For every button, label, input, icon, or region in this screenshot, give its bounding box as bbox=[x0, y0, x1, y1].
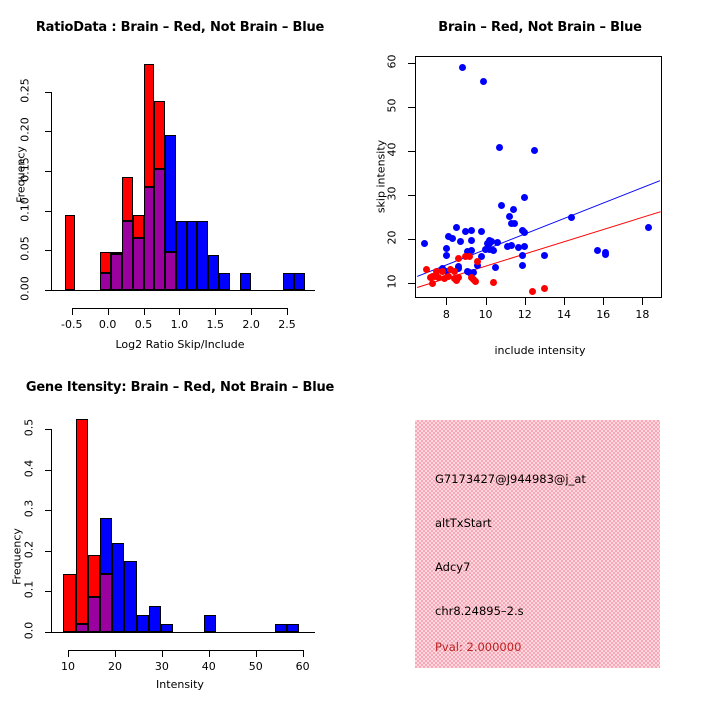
scatter-point bbox=[602, 251, 609, 258]
scatter-x-tick-label: 8 bbox=[430, 308, 462, 321]
ratio-baseline bbox=[51, 290, 315, 291]
gene-bar bbox=[63, 574, 75, 632]
scatter-data-layer bbox=[415, 56, 662, 298]
ratio-x-tick bbox=[108, 308, 109, 315]
scatter-x-tick bbox=[446, 298, 447, 305]
ratio-x-tick bbox=[72, 308, 73, 315]
ratio-bar bbox=[197, 221, 208, 290]
ratio-x-tick-label: 1.0 bbox=[159, 318, 199, 331]
ratio-bar-overlap bbox=[122, 221, 133, 290]
ratio-bar-overlap bbox=[154, 169, 165, 290]
scatter-point bbox=[480, 78, 487, 85]
scatter-x-tick-label: 12 bbox=[509, 308, 541, 321]
ratio-bar bbox=[111, 252, 122, 254]
gene-bar bbox=[137, 615, 149, 632]
scatter-y-tick bbox=[408, 283, 415, 284]
scatter-point bbox=[519, 262, 526, 269]
ratio-bar-overlap bbox=[133, 238, 144, 290]
ratio-x-tick-label: 2.0 bbox=[231, 318, 271, 331]
ratio-x-tick-label: 1.5 bbox=[195, 318, 235, 331]
scatter-y-tick-label: 60 bbox=[386, 48, 399, 74]
scatter-point bbox=[492, 264, 499, 271]
gene-x-tick-label: 60 bbox=[285, 660, 321, 673]
ratio-y-tick bbox=[45, 211, 52, 212]
gene-y-tick-label: 0.5 bbox=[23, 414, 36, 442]
locus-text: chr8.24895–2.s bbox=[435, 604, 524, 618]
ratio-bar-overlap bbox=[111, 254, 122, 290]
gene-x-tick bbox=[115, 650, 116, 657]
ratio-x-tick bbox=[251, 308, 252, 315]
gene-x-tick-label: 50 bbox=[238, 660, 274, 673]
scatter-point bbox=[453, 224, 460, 231]
ratio-y-tick-label: 0.10 bbox=[19, 193, 32, 225]
scatter-x-tick bbox=[486, 298, 487, 305]
probe-info-box: G7173427@J944983@j_at altTxStart Adcy7 c… bbox=[415, 420, 660, 668]
event-type-text: altTxStart bbox=[435, 516, 492, 530]
scatter-x-tick bbox=[603, 298, 604, 305]
scatter-point bbox=[510, 206, 517, 213]
scatter-x-tick bbox=[564, 298, 565, 305]
gene-y-tick-label: 0.2 bbox=[23, 535, 36, 563]
scatter-point bbox=[421, 240, 428, 247]
scatter-y-tick-label: 40 bbox=[386, 136, 399, 162]
ratio-y-tick bbox=[45, 131, 52, 132]
gene-x-tick-label: 10 bbox=[50, 660, 86, 673]
gene-bar bbox=[124, 561, 136, 632]
gene-y-tick bbox=[45, 510, 52, 511]
scatter-point bbox=[521, 229, 528, 236]
gene-x-axis-line bbox=[68, 650, 303, 651]
ratio-bar bbox=[154, 101, 165, 169]
ratio-bar bbox=[283, 273, 294, 290]
gene-y-tick bbox=[45, 551, 52, 552]
ratio-y-tick-label: 0.25 bbox=[19, 74, 32, 106]
ratio-histogram-plot-area: 0.000.050.100.150.200.25-0.50.00.51.01.5… bbox=[0, 0, 360, 360]
scatter-point bbox=[498, 202, 505, 209]
ratio-y-tick bbox=[45, 250, 52, 251]
ratio-bar bbox=[122, 177, 133, 221]
ratio-bar-overlap bbox=[100, 273, 111, 290]
gene-y-tick-label: 0.0 bbox=[23, 617, 36, 645]
ratio-x-tick bbox=[144, 308, 145, 315]
ratio-x-tick-label: -0.5 bbox=[52, 318, 92, 331]
scatter-point bbox=[457, 238, 464, 245]
gene-y-tick-label: 0.1 bbox=[23, 576, 36, 604]
scatter-point bbox=[594, 247, 601, 254]
ratio-bar bbox=[144, 64, 155, 187]
ratio-bar bbox=[187, 221, 198, 290]
ratio-bar bbox=[65, 215, 76, 290]
scatter-y-tick bbox=[408, 195, 415, 196]
gene-x-tick-label: 30 bbox=[144, 660, 180, 673]
scatter-plot-area: 10203040506081012141618 bbox=[360, 0, 720, 360]
pval-text: Pval: 2.000000 bbox=[435, 640, 521, 654]
gene-y-tick bbox=[45, 470, 52, 471]
ratio-bar bbox=[133, 215, 144, 239]
scatter-point bbox=[529, 288, 536, 295]
scatter-point bbox=[511, 220, 518, 227]
scatter-point bbox=[645, 224, 652, 231]
scatter-point bbox=[472, 278, 479, 285]
scatter-point bbox=[504, 243, 511, 250]
scatter-y-tick-label: 30 bbox=[386, 180, 399, 206]
gene-x-tick-label: 20 bbox=[97, 660, 133, 673]
scatter-y-tick bbox=[408, 239, 415, 240]
panel-ratio-histogram: RatioData : Brain – Red, Not Brain – Blu… bbox=[0, 0, 360, 360]
panel-gene-intensity-histogram: Gene Itensity: Brain – Red, Not Brain – … bbox=[0, 360, 360, 720]
scatter-point bbox=[496, 144, 503, 151]
ratio-bar bbox=[176, 221, 187, 290]
gene-bar bbox=[88, 555, 100, 597]
scatter-x-tick-label: 16 bbox=[587, 308, 619, 321]
gene-bar bbox=[76, 419, 88, 623]
scatter-point bbox=[568, 214, 575, 221]
ratio-bar bbox=[294, 273, 305, 290]
scatter-point bbox=[490, 279, 497, 286]
scatter-y-tick bbox=[408, 107, 415, 108]
ratio-y-tick-label: 0.20 bbox=[19, 114, 32, 146]
scatter-point bbox=[455, 255, 462, 262]
gene-x-tick bbox=[162, 650, 163, 657]
scatter-point bbox=[541, 285, 548, 292]
ratio-x-tick-label: 0.5 bbox=[124, 318, 164, 331]
scatter-x-tick-label: 18 bbox=[626, 308, 658, 321]
scatter-point bbox=[490, 247, 497, 254]
scatter-point bbox=[429, 280, 436, 287]
gene-x-tick bbox=[68, 650, 69, 657]
gene-bar bbox=[149, 606, 161, 632]
gene-x-tick-label: 40 bbox=[191, 660, 227, 673]
scatter-point bbox=[466, 253, 473, 260]
scatter-point bbox=[541, 252, 548, 259]
figure-canvas: RatioData : Brain – Red, Not Brain – Blu… bbox=[0, 0, 720, 720]
gene-bar bbox=[204, 615, 216, 632]
gene-bar bbox=[287, 624, 299, 632]
scatter-point bbox=[494, 239, 501, 246]
gene-bar-overlap bbox=[100, 574, 112, 632]
gene-bar bbox=[112, 543, 124, 632]
ratio-bar bbox=[100, 252, 111, 273]
ratio-bar-overlap bbox=[144, 187, 155, 290]
gene-y-tick-label: 0.4 bbox=[23, 454, 36, 482]
gene-baseline bbox=[51, 632, 315, 633]
scatter-x-tick bbox=[642, 298, 643, 305]
gene-y-tick bbox=[45, 591, 52, 592]
scatter-y-tick bbox=[408, 151, 415, 152]
gene-x-tick bbox=[209, 650, 210, 657]
panel-intensity-scatter: Brain – Red, Not Brain – Blue skip inten… bbox=[360, 0, 720, 360]
scatter-point bbox=[519, 252, 526, 259]
scatter-y-tick bbox=[408, 63, 415, 64]
ratio-y-axis-line bbox=[51, 92, 52, 290]
scatter-point bbox=[459, 64, 466, 71]
gene-y-tick-label: 0.3 bbox=[23, 495, 36, 523]
scatter-point bbox=[468, 237, 475, 244]
scatter-point bbox=[468, 227, 475, 234]
gene-x-tick bbox=[303, 650, 304, 657]
gene-x-tick bbox=[256, 650, 257, 657]
gene-bar bbox=[275, 624, 287, 632]
ratio-y-tick-label: 0.15 bbox=[19, 154, 32, 186]
ratio-y-tick bbox=[45, 92, 52, 93]
ratio-x-tick-label: 2.5 bbox=[267, 318, 307, 331]
scatter-point bbox=[521, 243, 528, 250]
scatter-point bbox=[443, 252, 450, 259]
ratio-y-tick bbox=[45, 171, 52, 172]
ratio-x-tick-label: 0.0 bbox=[88, 318, 128, 331]
scatter-y-tick-label: 20 bbox=[386, 224, 399, 250]
scatter-point bbox=[531, 147, 538, 154]
ratio-y-tick-label: 0.00 bbox=[19, 273, 32, 305]
gene-symbol-text: Adcy7 bbox=[435, 560, 470, 574]
scatter-point bbox=[482, 246, 489, 253]
scatter-point bbox=[506, 213, 513, 220]
scatter-y-tick-label: 50 bbox=[386, 92, 399, 118]
gene-y-axis-line bbox=[51, 429, 52, 632]
ratio-bar bbox=[165, 135, 176, 252]
gene-bar-overlap bbox=[76, 624, 88, 632]
ratio-x-tick bbox=[215, 308, 216, 315]
scatter-point bbox=[462, 228, 469, 235]
scatter-x-tick-label: 10 bbox=[470, 308, 502, 321]
scatter-y-tick-label: 10 bbox=[386, 268, 399, 294]
ratio-bar-overlap bbox=[165, 252, 176, 290]
ratio-bar bbox=[208, 255, 219, 290]
ratio-bar bbox=[240, 273, 251, 290]
gene-bar-overlap bbox=[88, 597, 100, 632]
scatter-x-tick-label: 14 bbox=[548, 308, 580, 321]
scatter-point bbox=[453, 277, 460, 284]
gene-y-tick bbox=[45, 429, 52, 430]
scatter-x-tick bbox=[525, 298, 526, 305]
ratio-bar bbox=[219, 273, 230, 290]
ratio-x-tick bbox=[287, 308, 288, 315]
gene-histogram-plot-area: 0.00.10.20.30.40.5102030405060 bbox=[0, 360, 360, 720]
ratio-x-tick bbox=[179, 308, 180, 315]
gene-bar bbox=[161, 624, 173, 632]
scatter-point bbox=[478, 228, 485, 235]
ratio-y-tick-label: 0.05 bbox=[19, 233, 32, 265]
gene-bar bbox=[100, 518, 112, 574]
scatter-point bbox=[521, 194, 528, 201]
probe-id-text: G7173427@J944983@j_at bbox=[435, 472, 586, 486]
panel-probe-info: G7173427@J944983@j_at altTxStart Adcy7 c… bbox=[360, 360, 720, 720]
